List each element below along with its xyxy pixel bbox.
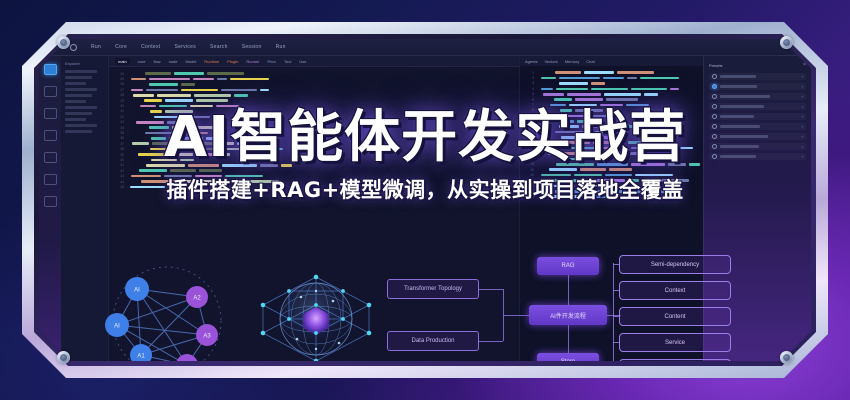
source-control-icon[interactable] xyxy=(44,108,57,119)
code-token xyxy=(167,121,184,124)
chevron-right-icon[interactable]: › xyxy=(802,124,803,129)
code-token xyxy=(138,153,176,156)
explorer-item[interactable] xyxy=(65,118,86,121)
debug-icon[interactable] xyxy=(44,130,57,141)
code-token xyxy=(605,174,632,177)
line-number: 11 xyxy=(523,125,534,129)
screw-icon xyxy=(780,351,793,364)
code-line: 24 xyxy=(523,194,700,199)
code-token xyxy=(157,94,191,97)
chevron-right-icon[interactable]: › xyxy=(802,104,803,109)
tab-memory[interactable]: Memory xyxy=(565,59,579,64)
tab-use[interactable]: Use xyxy=(299,59,306,64)
line-number: 19 xyxy=(523,168,534,172)
code-token xyxy=(237,142,261,145)
eye-icon xyxy=(712,84,717,89)
extensions-icon[interactable] xyxy=(44,152,57,163)
code-token xyxy=(647,141,671,144)
tab-core[interactable]: core xyxy=(138,59,146,64)
explorer-item[interactable] xyxy=(65,82,86,85)
code-token xyxy=(195,175,222,178)
code-token xyxy=(635,174,673,177)
line-number: 39 xyxy=(113,153,124,157)
list-connector xyxy=(613,264,619,265)
code-token xyxy=(589,152,603,155)
agent-network-graph: AI A2 AI A3 A1 A0 xyxy=(79,263,259,361)
code-token xyxy=(590,158,604,161)
code-token xyxy=(541,174,571,177)
tab-model[interactable]: Model xyxy=(185,59,196,64)
code-token xyxy=(559,82,588,85)
code-token xyxy=(149,78,190,81)
code-token xyxy=(559,125,579,128)
code-token xyxy=(546,120,574,123)
code-token xyxy=(575,109,603,112)
code-token xyxy=(185,132,208,135)
code-token xyxy=(580,168,606,171)
line-number: 25 xyxy=(113,77,124,81)
code-token xyxy=(631,147,652,150)
line-number: 9 xyxy=(523,114,534,118)
code-token xyxy=(180,159,194,162)
flow-node-left-1: Data Production xyxy=(387,331,479,351)
line-number: 10 xyxy=(523,119,534,123)
list-connector xyxy=(613,342,619,343)
code-token xyxy=(578,185,592,188)
code-token xyxy=(642,179,652,182)
code-token xyxy=(631,163,666,166)
tab-tool[interactable]: Tool xyxy=(284,59,291,64)
tab-agents[interactable]: Agents xyxy=(525,59,537,64)
code-token xyxy=(177,180,215,183)
property-label xyxy=(720,105,764,107)
code-token xyxy=(626,104,649,107)
code-token xyxy=(221,89,257,92)
code-token xyxy=(183,142,215,145)
code-token xyxy=(606,98,638,101)
properties-rows[interactable]: ››››››››› xyxy=(709,73,806,160)
svg-text:AI: AI xyxy=(114,324,120,330)
line-number: 27 xyxy=(113,88,124,92)
code-token xyxy=(174,72,204,75)
code-token xyxy=(584,71,614,74)
diagram-band: AI A2 AI A3 A1 A0 xyxy=(39,251,811,361)
code-token xyxy=(218,142,234,145)
screw-icon xyxy=(57,36,70,49)
tab-prior[interactable]: Prior xyxy=(268,59,276,64)
code-token xyxy=(595,185,608,188)
code-token xyxy=(627,77,637,80)
menu-item-1[interactable]: Core xyxy=(115,44,127,50)
code-token xyxy=(655,179,689,182)
code-token xyxy=(164,175,192,178)
line-number: 33 xyxy=(113,120,124,124)
code-token xyxy=(206,137,214,140)
code-token xyxy=(218,153,230,156)
tab-flow[interactable]: flow xyxy=(153,59,160,64)
line-number: 7 xyxy=(523,103,534,107)
explorer-item[interactable] xyxy=(65,94,92,97)
line-number: 21 xyxy=(523,179,534,183)
line-number: 13 xyxy=(523,135,534,139)
chevron-right-icon[interactable]: › xyxy=(802,134,803,139)
code-token xyxy=(196,99,228,102)
menu-item-4[interactable]: Search xyxy=(210,44,228,50)
list-item: Semi-plugin xyxy=(619,359,731,361)
tab-vectors[interactable]: Vectors xyxy=(544,59,557,64)
code-token xyxy=(154,116,178,119)
code-token xyxy=(165,99,193,102)
menu-item-0[interactable]: Run xyxy=(91,44,101,50)
line-number: 41 xyxy=(113,163,124,167)
line-number: 4 xyxy=(523,87,534,91)
code-token xyxy=(234,94,248,97)
code-token xyxy=(562,141,590,144)
tab-main[interactable]: main xyxy=(115,58,130,65)
code-token xyxy=(190,105,213,108)
explorer-item[interactable] xyxy=(65,124,97,127)
list-connector xyxy=(613,316,619,317)
code-token xyxy=(569,104,597,107)
property-label xyxy=(720,85,757,87)
code-token xyxy=(131,78,146,81)
code-token xyxy=(216,105,239,108)
code-token xyxy=(222,164,257,167)
code-token xyxy=(168,186,182,189)
code-token xyxy=(541,77,556,80)
line-number: 17 xyxy=(523,157,534,161)
code-token xyxy=(554,98,572,101)
code-token xyxy=(146,164,185,167)
chevron-right-icon[interactable]: › xyxy=(802,74,803,79)
list-item: Semi-dependency xyxy=(619,255,731,274)
code-token xyxy=(575,98,603,101)
code-token xyxy=(591,82,605,85)
code-token xyxy=(582,125,598,128)
code-token xyxy=(172,126,188,129)
code-token xyxy=(579,136,613,139)
line-number: 24 xyxy=(523,195,534,199)
code-token xyxy=(132,142,149,145)
tab-chat[interactable]: Chat xyxy=(586,59,594,64)
code-token xyxy=(550,104,566,107)
code-token xyxy=(169,137,203,140)
line-number: 3 xyxy=(523,81,534,85)
line-number: 29 xyxy=(113,99,124,103)
list-item: Content xyxy=(619,307,731,326)
code-token xyxy=(601,125,637,128)
code-token xyxy=(595,131,618,134)
code-token xyxy=(549,168,577,171)
code-token xyxy=(577,120,594,123)
code-token xyxy=(600,104,623,107)
line-number: 37 xyxy=(113,142,124,146)
screen-bezel: Run Core Context Services Search Session… xyxy=(39,39,811,361)
line-number: 32 xyxy=(113,115,124,119)
explorer-item[interactable] xyxy=(65,70,97,73)
code-token xyxy=(689,163,700,166)
line-number: 2 xyxy=(523,76,534,80)
flow-connector xyxy=(568,275,569,305)
property-row[interactable]: › xyxy=(709,83,806,90)
code-token xyxy=(541,88,553,91)
property-row[interactable]: › xyxy=(709,153,806,160)
line-number: 16 xyxy=(523,152,534,156)
code-token xyxy=(542,141,559,144)
code-token xyxy=(606,152,625,155)
explorer-item[interactable] xyxy=(65,106,97,109)
code-token xyxy=(151,159,177,162)
folder-icon xyxy=(712,134,717,139)
tab-runtime[interactable]: Runtime xyxy=(204,59,219,64)
code-token xyxy=(207,72,244,75)
code-token xyxy=(644,93,658,96)
explorer-title: Explorer xyxy=(65,61,104,66)
line-number: 45 xyxy=(113,185,124,189)
code-token xyxy=(574,174,602,177)
properties-header: Presets × xyxy=(709,62,806,68)
property-label xyxy=(720,145,759,147)
code-token xyxy=(232,180,242,183)
code-token xyxy=(548,152,586,155)
code-token xyxy=(145,72,171,75)
code-token xyxy=(245,148,283,151)
settings-icon[interactable] xyxy=(44,196,57,207)
svg-text:A2: A2 xyxy=(193,296,201,302)
line-number: 23 xyxy=(523,189,534,193)
line-number: 34 xyxy=(113,126,124,130)
code-token xyxy=(560,147,600,150)
line-number: 15 xyxy=(523,146,534,150)
property-label xyxy=(720,135,768,137)
code-token xyxy=(655,147,693,150)
tab-plugin[interactable]: Plugin xyxy=(227,59,238,64)
svg-text:A3: A3 xyxy=(203,334,211,340)
code-token xyxy=(199,169,222,172)
property-row[interactable]: › xyxy=(709,103,806,110)
chevron-right-icon[interactable]: › xyxy=(802,84,803,89)
banner-stage: Run Core Context Services Search Session… xyxy=(0,0,850,400)
flow-node-rag: RAG xyxy=(537,257,599,275)
code-token xyxy=(150,148,190,151)
code-token xyxy=(555,131,592,134)
code-token xyxy=(193,148,218,151)
code-token xyxy=(628,179,639,182)
property-row[interactable]: › xyxy=(709,143,806,150)
tag-icon xyxy=(712,154,717,159)
property-row[interactable]: › xyxy=(709,73,806,80)
property-label xyxy=(720,115,754,117)
explorer-item[interactable] xyxy=(65,130,92,133)
flow-connector xyxy=(568,325,569,353)
tab-runner[interactable]: Runner xyxy=(246,59,259,64)
code-token xyxy=(546,195,577,198)
line-number: 1 xyxy=(523,71,534,75)
code-token xyxy=(580,195,611,198)
code-token xyxy=(152,142,180,145)
secondary-tabbar[interactable]: Agents Vectors Memory Chat xyxy=(520,56,703,66)
property-label xyxy=(720,95,770,97)
code-token xyxy=(551,179,584,182)
code-token xyxy=(140,105,156,108)
search-icon[interactable] xyxy=(44,86,57,97)
code-token xyxy=(196,153,215,156)
chevron-right-icon[interactable]: › xyxy=(802,94,803,99)
line-number: 22 xyxy=(523,184,534,188)
line-number: 26 xyxy=(113,82,124,86)
chevron-right-icon[interactable]: › xyxy=(802,154,803,159)
property-label xyxy=(720,125,760,127)
line-number: 14 xyxy=(523,141,534,145)
explorer-item[interactable] xyxy=(65,100,86,103)
code-token xyxy=(149,126,169,129)
code-token xyxy=(597,163,628,166)
flow-connector xyxy=(503,315,529,316)
explorer-item[interactable] xyxy=(65,76,92,79)
code-token xyxy=(185,186,198,189)
property-row[interactable]: › xyxy=(709,93,806,100)
line-number: 5 xyxy=(523,92,534,96)
screw-icon xyxy=(780,36,793,49)
code-token xyxy=(130,186,165,189)
code-token xyxy=(179,153,193,156)
property-row[interactable]: › xyxy=(709,133,806,140)
flow-node-center: AI件开发流程 xyxy=(529,305,607,325)
line-number: 12 xyxy=(523,130,534,134)
code-token xyxy=(543,93,564,96)
code-token xyxy=(146,89,178,92)
code-token xyxy=(144,99,162,102)
chevron-right-icon[interactable]: › xyxy=(802,144,803,149)
files-icon[interactable] xyxy=(44,64,57,75)
code-token xyxy=(603,147,628,150)
code-token xyxy=(603,77,624,80)
code-token xyxy=(260,164,278,167)
code-token xyxy=(555,71,581,74)
line-number: 44 xyxy=(113,180,124,184)
line-number: 28 xyxy=(113,93,124,97)
chevron-right-icon[interactable]: › xyxy=(802,114,803,119)
code-token xyxy=(181,89,218,92)
code-token xyxy=(145,132,182,135)
code-token xyxy=(245,180,279,183)
code-token xyxy=(170,169,196,172)
line-number: 20 xyxy=(523,173,534,177)
layers-icon xyxy=(712,94,717,99)
code-token xyxy=(561,158,587,161)
editor-screen: Run Core Context Services Search Session… xyxy=(39,39,811,361)
property-row[interactable]: › xyxy=(709,123,806,130)
code-token xyxy=(593,141,625,144)
flow-connector xyxy=(479,341,503,342)
metallic-frame: Run Core Context Services Search Session… xyxy=(22,22,828,378)
code-token xyxy=(670,88,679,91)
editor-tabbar[interactable]: main core flow node Model Runtime Plugin… xyxy=(109,56,519,67)
code-token xyxy=(567,93,601,96)
menu-item-6[interactable]: Run xyxy=(276,44,286,50)
property-label xyxy=(720,155,756,157)
screw-icon xyxy=(57,351,70,364)
code-token xyxy=(628,152,640,155)
clock-icon xyxy=(712,114,717,119)
cloud-icon[interactable] xyxy=(44,174,57,185)
explorer-item[interactable] xyxy=(65,88,97,91)
flow-diagram: Transformer Topology Data Production AI件… xyxy=(387,253,617,361)
line-number: 40 xyxy=(113,158,124,162)
code-token xyxy=(136,121,164,124)
property-row[interactable]: › xyxy=(709,113,806,120)
code-token xyxy=(150,110,162,113)
svg-text:AI: AI xyxy=(134,288,140,294)
code-token xyxy=(194,94,231,97)
line-number: 43 xyxy=(113,174,124,178)
menu-item-3[interactable]: Services xyxy=(174,44,196,50)
code-token xyxy=(616,136,624,139)
code-token xyxy=(609,168,632,171)
editor-menubar[interactable]: Run Core Context Services Search Session… xyxy=(39,39,811,56)
code-token xyxy=(591,115,620,118)
code-token xyxy=(131,89,143,92)
line-number: 6 xyxy=(523,98,534,102)
flow-node-store: Store xyxy=(537,353,599,361)
code-token xyxy=(151,137,166,140)
explorer-item[interactable] xyxy=(65,112,92,115)
tune-icon xyxy=(712,104,717,109)
code-token xyxy=(218,180,229,183)
code-token xyxy=(628,141,644,144)
line-number: 31 xyxy=(113,109,124,113)
line-number: 30 xyxy=(113,104,124,108)
code-token xyxy=(191,126,227,129)
code-token xyxy=(668,163,686,166)
code-token xyxy=(260,89,269,92)
code-token xyxy=(564,115,588,118)
code-token xyxy=(230,78,269,81)
doc-icon xyxy=(712,124,717,129)
code-token xyxy=(165,110,193,113)
isometric-network-cube xyxy=(251,259,381,361)
menu-item-5[interactable]: Session xyxy=(242,44,262,50)
code-token xyxy=(631,88,667,91)
menu-item-2[interactable]: Context xyxy=(141,44,160,50)
code-token xyxy=(560,109,572,112)
tab-node[interactable]: node xyxy=(169,59,178,64)
line-number: 36 xyxy=(113,136,124,140)
code-token xyxy=(591,88,628,91)
grid-icon xyxy=(712,74,717,79)
code-line: 45 xyxy=(113,184,519,189)
code-token xyxy=(588,190,625,193)
property-label xyxy=(720,75,756,77)
code-token xyxy=(587,179,625,182)
properties-title: Presets xyxy=(709,63,723,68)
code-token xyxy=(131,175,161,178)
refresh-icon[interactable] xyxy=(70,44,77,51)
code-token xyxy=(555,190,585,193)
code-token xyxy=(556,163,595,166)
flow-node-left-0: Transformer Topology xyxy=(387,279,479,299)
code-token xyxy=(217,78,227,81)
line-number: 18 xyxy=(523,162,534,166)
code-token xyxy=(617,71,654,74)
code-token xyxy=(640,77,679,80)
code-token xyxy=(225,175,263,178)
code-token xyxy=(628,190,669,193)
line-number: 35 xyxy=(113,131,124,135)
capability-list: Semi-dependency Context Content Service … xyxy=(619,253,739,361)
line-number: 38 xyxy=(113,147,124,151)
list-connector xyxy=(613,263,614,361)
